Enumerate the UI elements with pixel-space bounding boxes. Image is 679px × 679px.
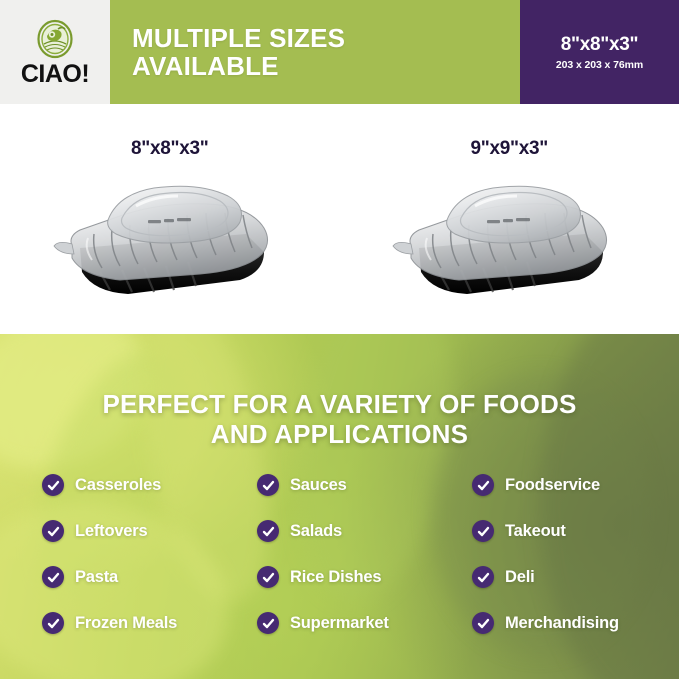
list-item: Leftovers xyxy=(42,520,257,542)
list-item: Takeout xyxy=(472,520,642,542)
applications-list: Casseroles Sauces Foodservice Leftovers xyxy=(42,474,642,634)
list-item-label: Leftovers xyxy=(75,522,147,541)
header-title: MULTIPLE SIZES AVAILABLE xyxy=(132,24,345,80)
check-circle-icon xyxy=(42,612,64,634)
product-item: 9"x9"x3" xyxy=(340,104,679,334)
brand-panel: CIAO! xyxy=(0,0,110,104)
list-item-label: Foodservice xyxy=(505,476,600,495)
check-circle-icon xyxy=(42,520,64,542)
badge-size-inches: 8"x8"x3" xyxy=(561,34,638,56)
clamshell-container-icon xyxy=(50,176,290,302)
list-item: Salads xyxy=(257,520,472,542)
header-size-badge: 8"x8"x3" 203 x 203 x 76mm xyxy=(520,0,679,104)
product-infographic: CIAO! MULTIPLE SIZES AVAILABLE 8"x8"x3" … xyxy=(0,0,679,679)
list-item-label: Rice Dishes xyxy=(290,568,381,587)
list-item-label: Supermarket xyxy=(290,614,389,633)
check-circle-icon xyxy=(472,474,494,496)
product-size-label: 9"x9"x3" xyxy=(471,138,548,160)
check-circle-icon xyxy=(472,520,494,542)
product-showcase: 8"x8"x3" xyxy=(0,104,679,334)
brand-name: CIAO! xyxy=(21,62,89,87)
list-item-label: Casseroles xyxy=(75,476,161,495)
list-item: Frozen Meals xyxy=(42,612,257,634)
check-circle-icon xyxy=(257,520,279,542)
list-item-label: Deli xyxy=(505,568,534,587)
list-item: Rice Dishes xyxy=(257,566,472,588)
check-circle-icon xyxy=(42,474,64,496)
list-item-label: Salads xyxy=(290,522,342,541)
list-item-label: Sauces xyxy=(290,476,347,495)
check-circle-icon xyxy=(257,612,279,634)
list-item-label: Merchandising xyxy=(505,614,619,633)
check-circle-icon xyxy=(42,566,64,588)
product-size-label: 8"x8"x3" xyxy=(131,138,208,160)
check-circle-icon xyxy=(257,566,279,588)
olive-branch-emblem-icon xyxy=(34,18,76,60)
list-item-label: Takeout xyxy=(505,522,566,541)
list-item: Casseroles xyxy=(42,474,257,496)
header-title-container: MULTIPLE SIZES AVAILABLE xyxy=(110,0,520,104)
clamshell-container-icon xyxy=(389,176,629,302)
list-item: Sauces xyxy=(257,474,472,496)
product-item: 8"x8"x3" xyxy=(0,104,340,334)
list-item: Deli xyxy=(472,566,642,588)
applications-heading: PERFECT FOR A VARIETY OF FOODS AND APPLI… xyxy=(0,389,679,449)
badge-size-millimeters: 203 x 203 x 76mm xyxy=(556,59,643,71)
list-item: Merchandising xyxy=(472,612,642,634)
check-circle-icon xyxy=(257,474,279,496)
list-item: Pasta xyxy=(42,566,257,588)
list-item: Foodservice xyxy=(472,474,642,496)
check-circle-icon xyxy=(472,566,494,588)
header-bar: CIAO! MULTIPLE SIZES AVAILABLE 8"x8"x3" … xyxy=(0,0,679,104)
list-item-label: Pasta xyxy=(75,568,118,587)
applications-section: PERFECT FOR A VARIETY OF FOODS AND APPLI… xyxy=(0,334,679,679)
list-item: Supermarket xyxy=(257,612,472,634)
check-circle-icon xyxy=(472,612,494,634)
list-item-label: Frozen Meals xyxy=(75,614,177,633)
